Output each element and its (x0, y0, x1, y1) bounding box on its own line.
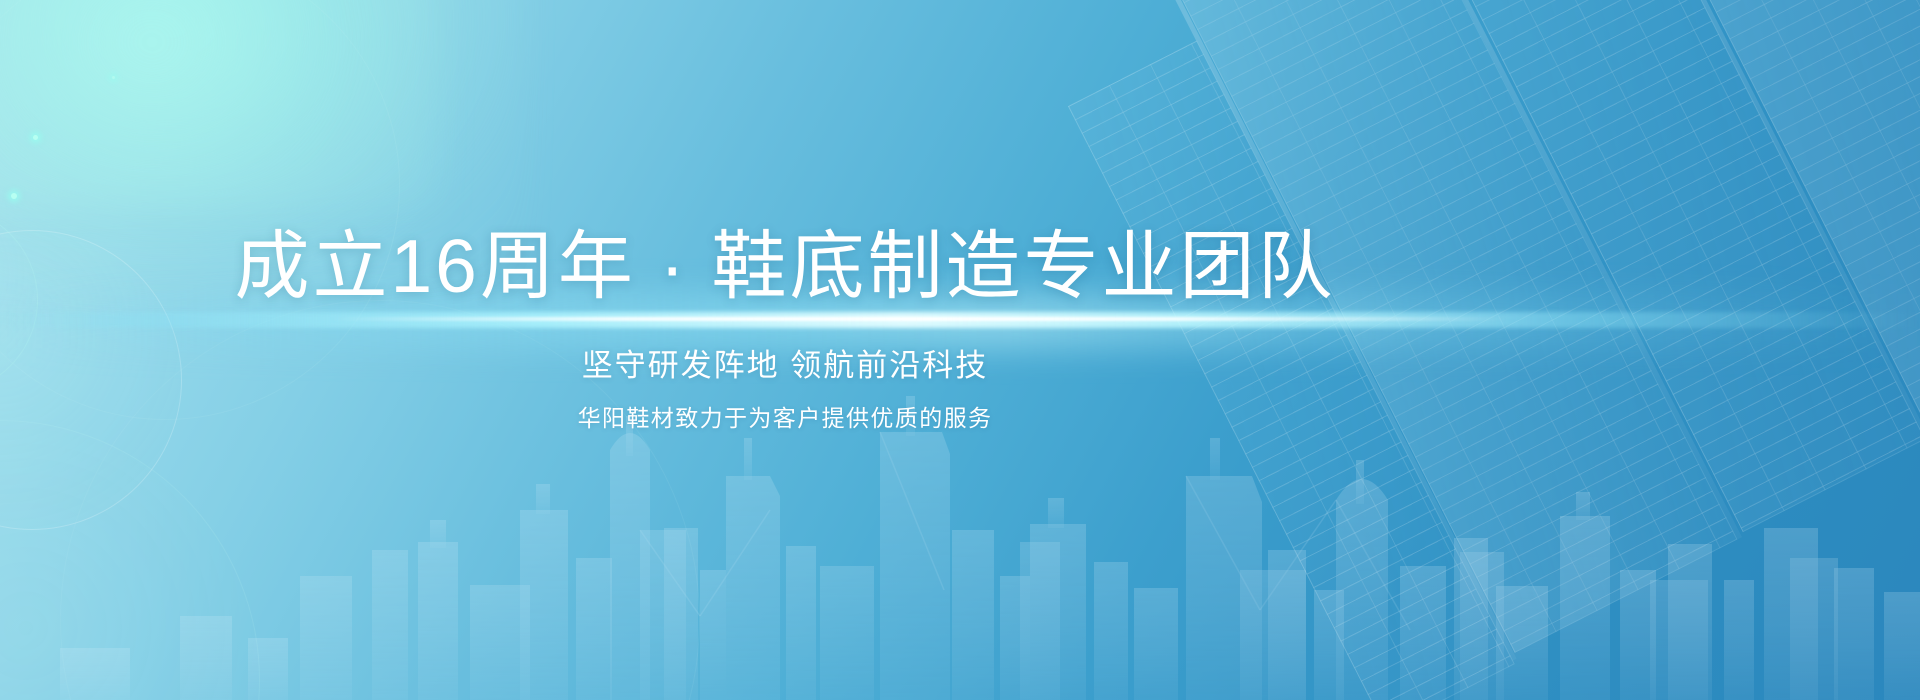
banner-headline: 成立16周年 · 鞋底制造专业团队 (234, 229, 1335, 304)
banner-subtitle-primary: 坚守研发阵地 领航前沿科技 (582, 350, 989, 381)
banner-subtitle-secondary: 华阳鞋材致力于为客户提供优质的服务 (578, 407, 993, 430)
hero-banner: 成立16周年 · 鞋底制造专业团队 坚守研发阵地 领航前沿科技 华阳鞋材致力于为… (0, 0, 1920, 700)
banner-text-block: 成立16周年 · 鞋底制造专业团队 坚守研发阵地 领航前沿科技 华阳鞋材致力于为… (0, 0, 1570, 700)
